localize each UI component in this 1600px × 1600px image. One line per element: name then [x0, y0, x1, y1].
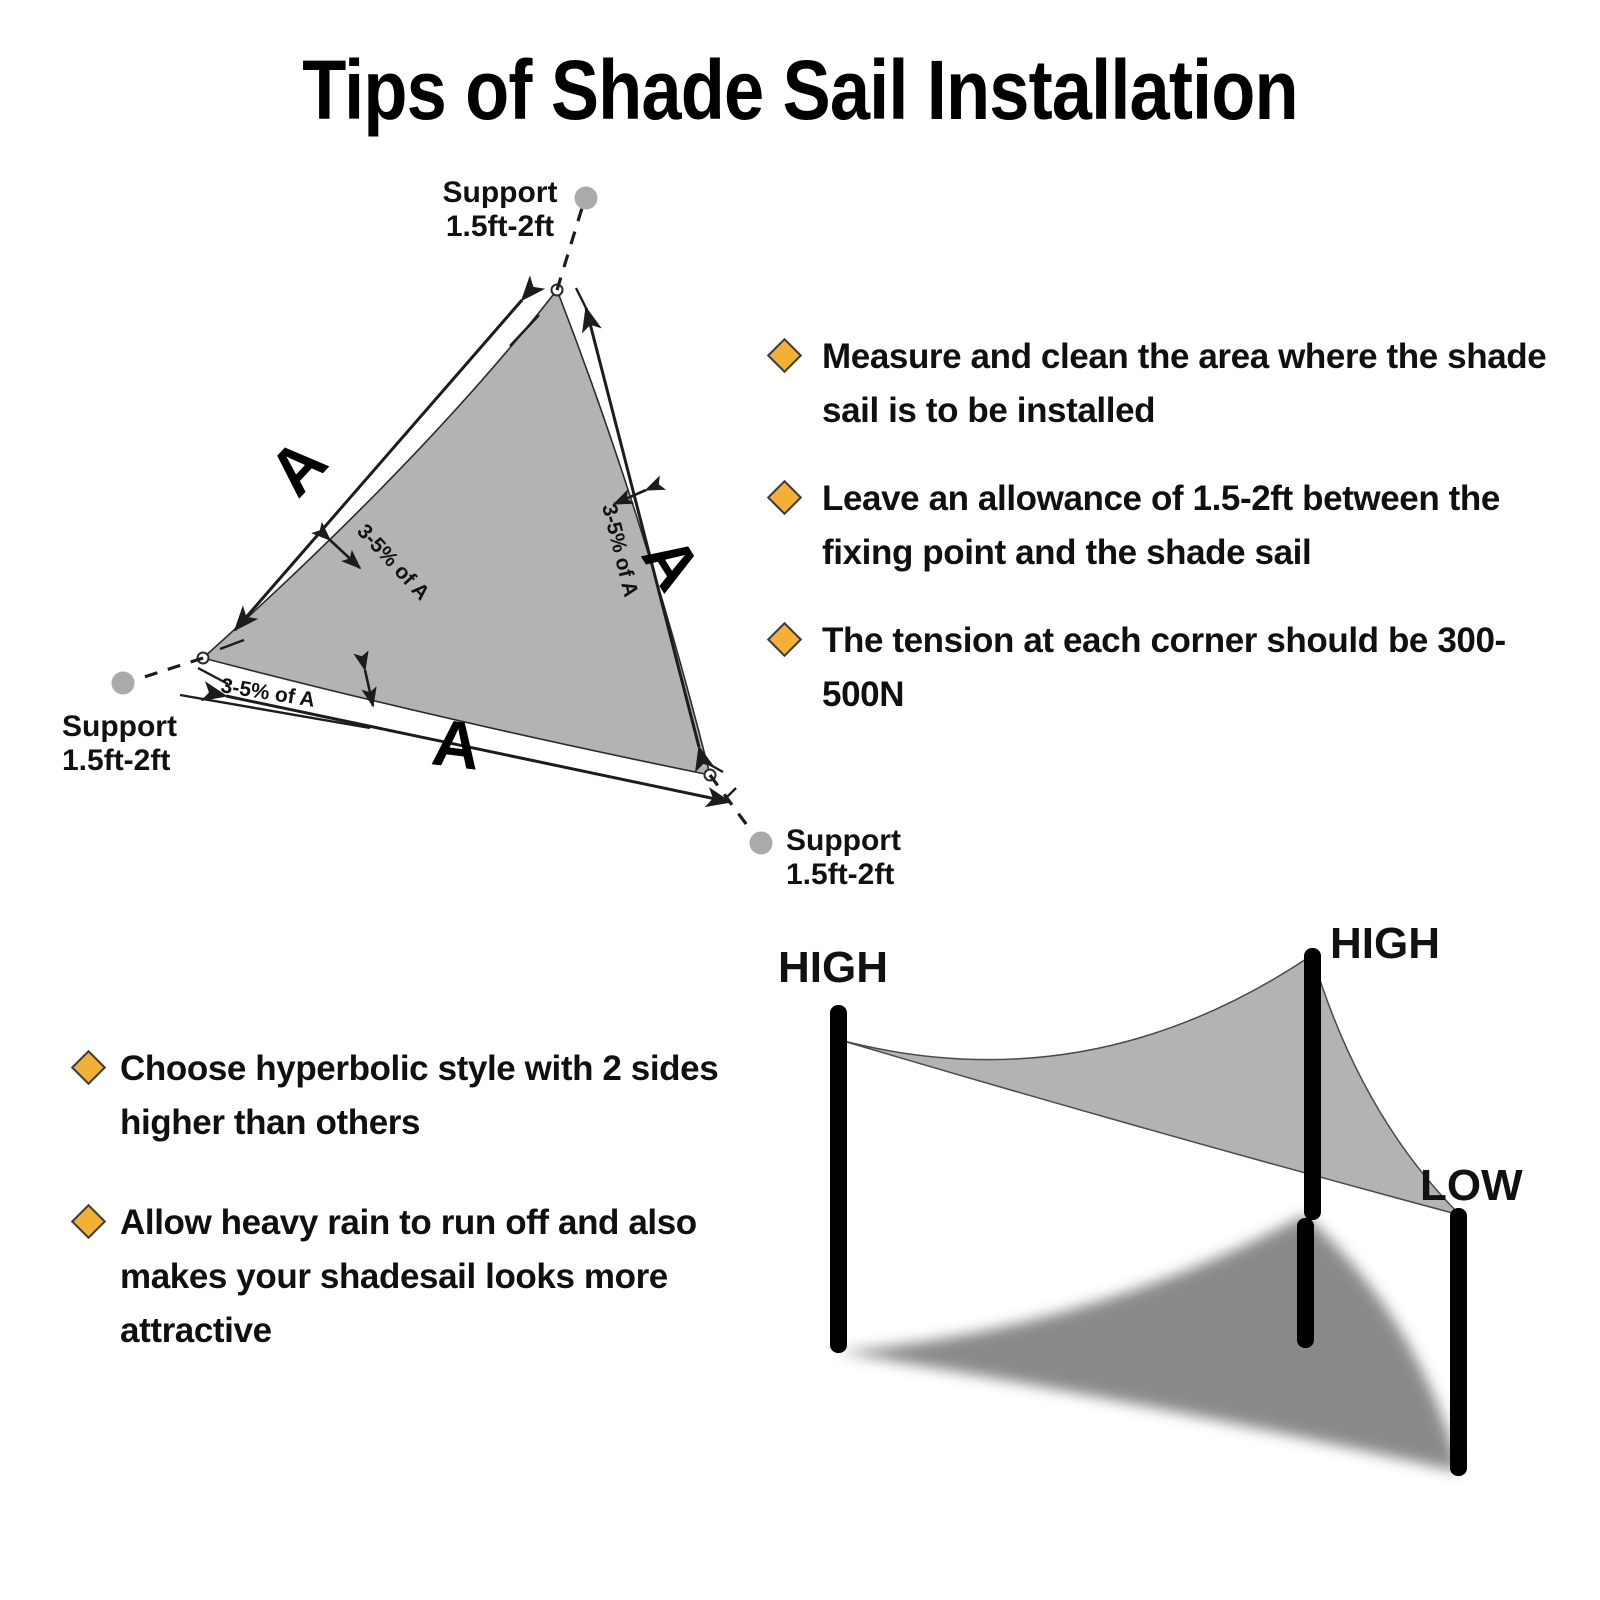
diamond-bullet-icon [767, 480, 802, 515]
list-item-text: Measure and clean the area where the sha… [822, 337, 1546, 430]
list-item: Measure and clean the area where the sha… [768, 330, 1558, 438]
support-bottom-right-label-line1: Support [786, 824, 901, 857]
post-low [1450, 1208, 1467, 1476]
support-bottom-left-label-line1: Support [62, 710, 177, 743]
post-left-high-label: HIGH [778, 943, 888, 992]
support-top-label-line2: 1.5ft-2ft [446, 210, 554, 243]
tips-list-right: Measure and clean the area where the sha… [768, 330, 1558, 756]
diamond-bullet-icon [71, 1050, 106, 1085]
support-leader-bottom-left [135, 658, 203, 680]
support-anchor-top [575, 187, 598, 210]
support-bottom-left-label-line2: 1.5ft-2ft [62, 744, 170, 777]
support-top-label-line1: Support [443, 176, 558, 209]
list-item: Leave an allowance of 1.5-2ft between th… [768, 472, 1558, 580]
post-low-label: LOW [1420, 1161, 1523, 1210]
support-bottom-right-label-line2: 1.5ft-2ft [786, 858, 894, 891]
post-right-high-label: HIGH [1330, 919, 1440, 968]
hyperbolic-sail-shape [840, 955, 1460, 1215]
list-item: The tension at each corner should be 300… [768, 614, 1558, 722]
diamond-bullet-icon [71, 1204, 106, 1239]
diamond-bullet-icon [767, 622, 802, 657]
support-anchor-bottom-left [112, 672, 135, 695]
post-right-high [1304, 948, 1321, 1220]
list-item-text: The tension at each corner should be 300… [822, 621, 1506, 714]
support-leader-top [557, 208, 582, 290]
list-item-text: Choose hyperbolic style with 2 sides hig… [120, 1049, 718, 1142]
list-item: Choose hyperbolic style with 2 sides hig… [72, 1042, 782, 1150]
tips-list-left: Choose hyperbolic style with 2 sides hig… [72, 1042, 782, 1404]
hyperbolic-shade-sail-diagram: HIGH HIGH LOW [760, 900, 1600, 1540]
side-left-length-label: A [254, 424, 341, 509]
list-item: Allow heavy rain to run off and also mak… [72, 1196, 782, 1358]
page-title: Tips of Shade Sail Installation [112, 42, 1488, 138]
support-leader-bottom-right [710, 775, 752, 832]
diamond-bullet-icon [767, 338, 802, 373]
post-left-high [830, 1005, 847, 1353]
support-anchor-bottom-right [750, 832, 773, 855]
ground-shadow [838, 1215, 1460, 1472]
post-middle-back [1297, 1218, 1314, 1348]
side-bottom-length-label: A [428, 704, 484, 783]
list-item-text: Allow heavy rain to run off and also mak… [120, 1203, 697, 1350]
list-item-text: Leave an allowance of 1.5-2ft between th… [822, 479, 1500, 572]
